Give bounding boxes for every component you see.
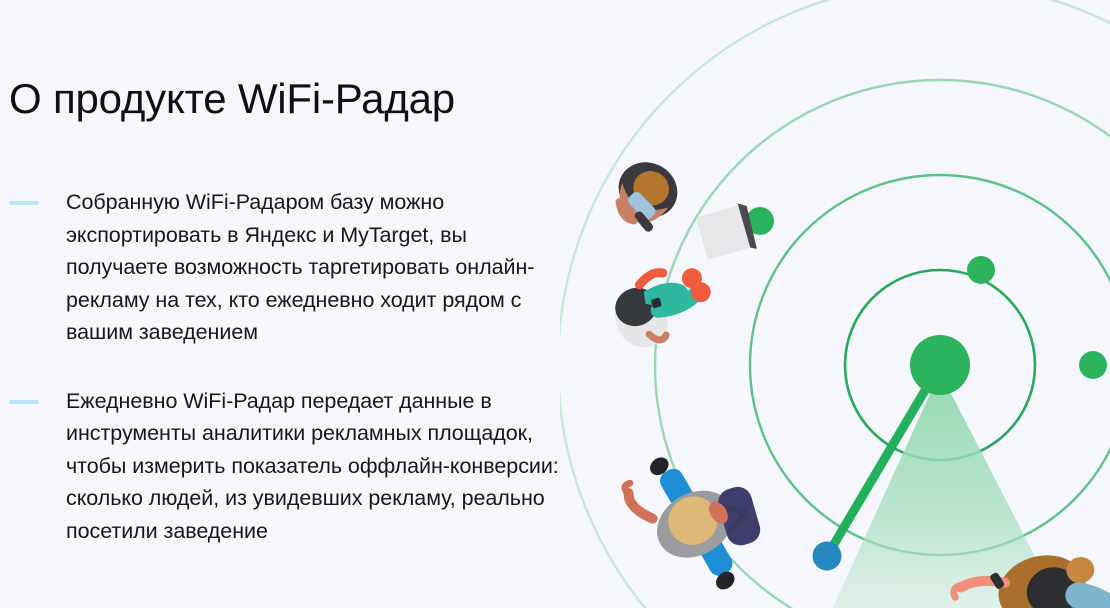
slide-root: О продукте WiFi-Радар Собранную WiFi-Рад… [0,0,1110,608]
person-teal-outfit-left [605,258,721,354]
bullet-text-2: Ежедневно WiFi-Радар передает данные в и… [66,385,569,548]
radar-diagram [560,0,1110,608]
bullet-text-1: Собранную WiFi-Радаром базу можно экспор… [66,186,569,349]
radar-node-3 [1079,351,1107,379]
bullet-dash-icon [9,201,39,205]
text-column: О продукте WiFi-Радар Собранную WiFi-Рад… [0,0,580,608]
bullet-item-1: Собранную WiFi-Радаром базу можно экспор… [9,186,569,349]
bullet-dash-icon [9,400,39,404]
radar-hub-node [910,335,970,395]
radar-device-node [813,542,842,571]
wifi-radar-illustration [560,0,1110,608]
laptop [695,201,758,262]
bullet-item-2: Ежедневно WiFi-Радар передает данные в и… [9,385,569,548]
person-with-laptop-top-left [604,152,688,238]
radar-node-2 [967,256,995,284]
bullet-list: Собранную WiFi-Радаром базу можно экспор… [9,186,569,583]
page-title: О продукте WiFi-Радар [9,74,455,124]
person-with-backpack-bottom-left [618,424,789,608]
